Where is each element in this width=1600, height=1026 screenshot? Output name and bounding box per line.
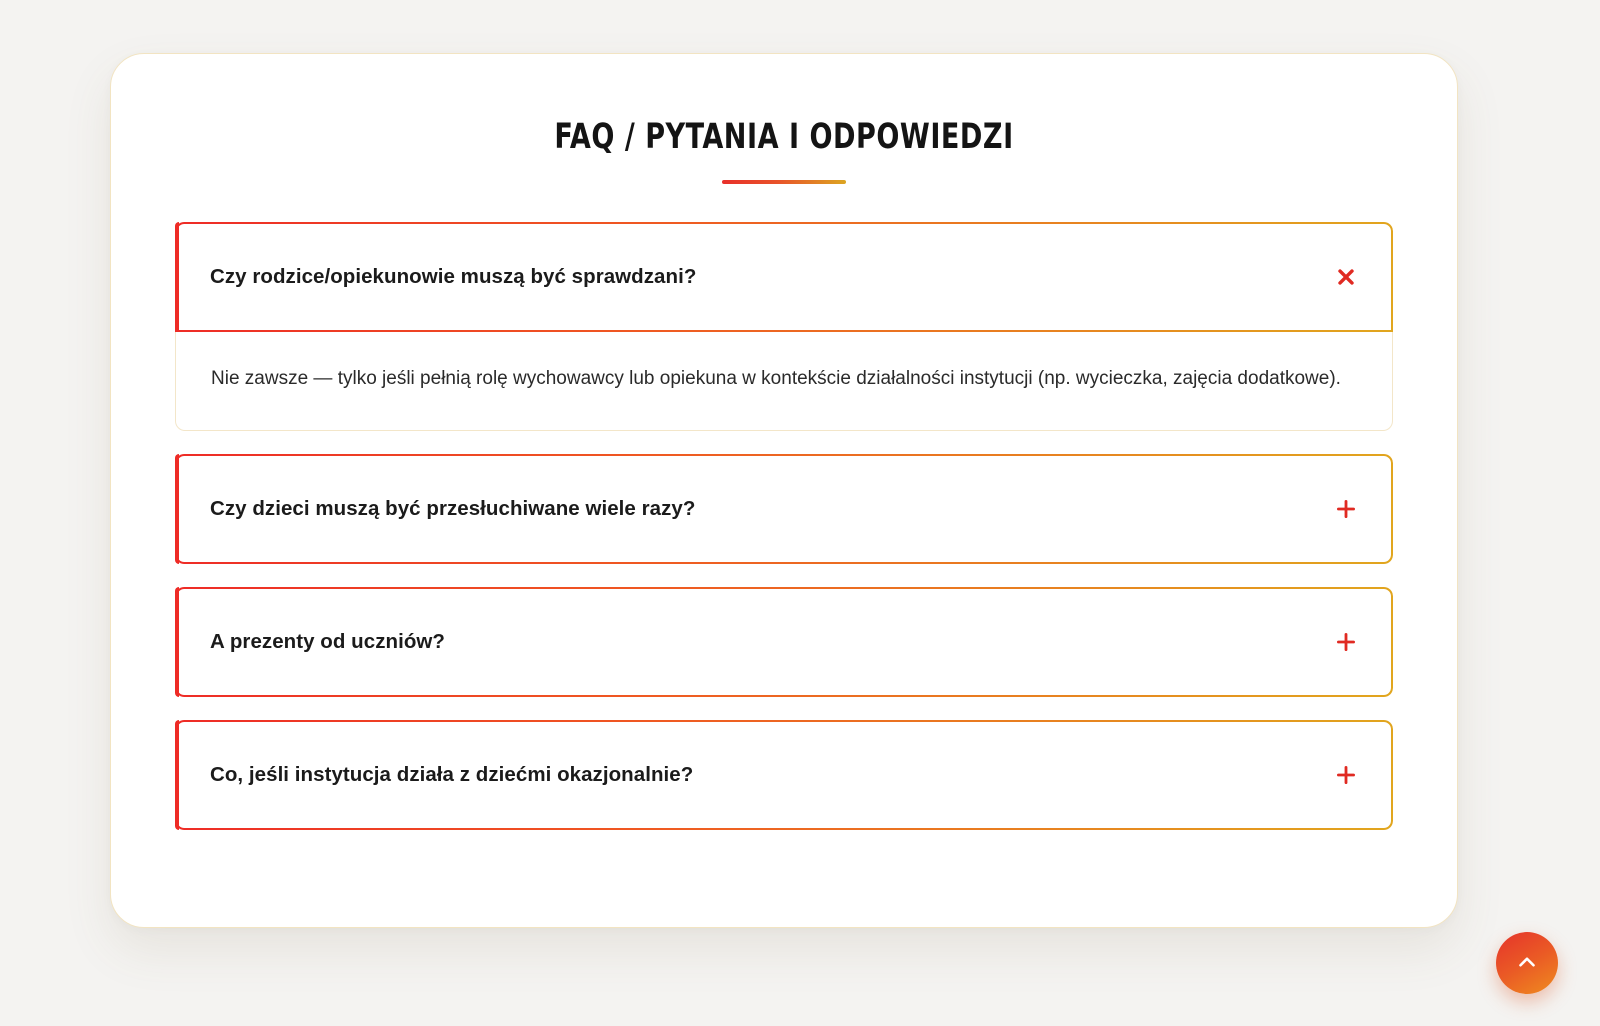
faq-question-text: Czy dzieci muszą być przesłuchiwane wiel…: [210, 497, 695, 521]
faq-item: A prezenty od uczniów?: [175, 587, 1393, 697]
page-title: FAQ / PYTANIA I ODPOWIEDZI: [205, 117, 1363, 157]
chevron-up-icon: [1514, 949, 1540, 978]
faq-question-toggle[interactable]: Czy rodzice/opiekunowie muszą być sprawd…: [175, 222, 1393, 332]
faq-question-toggle[interactable]: A prezenty od uczniów?: [175, 587, 1393, 697]
faq-card: FAQ / PYTANIA I ODPOWIEDZI Czy rodzice/o…: [110, 53, 1458, 928]
faq-question-toggle[interactable]: Czy dzieci muszą być przesłuchiwane wiel…: [175, 454, 1393, 564]
faq-item: Co, jeśli instytucja działa z dziećmi ok…: [175, 720, 1393, 830]
faq-question-text: A prezenty od uczniów?: [210, 630, 445, 654]
faq-answer-text: Nie zawsze — tylko jeśli pełnią rolę wyc…: [211, 362, 1358, 396]
faq-question-text: Co, jeśli instytucja działa z dziećmi ok…: [210, 763, 693, 787]
scroll-to-top-button[interactable]: [1496, 932, 1558, 994]
faq-answer-panel: Nie zawsze — tylko jeśli pełnią rolę wyc…: [175, 332, 1393, 431]
plus-icon[interactable]: [1333, 629, 1359, 655]
faq-question-toggle[interactable]: Co, jeśli instytucja działa z dziećmi ok…: [175, 720, 1393, 830]
faq-accordion: Czy rodzice/opiekunowie muszą być sprawd…: [175, 222, 1393, 830]
close-icon[interactable]: [1333, 264, 1359, 290]
plus-icon[interactable]: [1333, 496, 1359, 522]
faq-item: Czy dzieci muszą być przesłuchiwane wiel…: [175, 454, 1393, 564]
faq-item: Czy rodzice/opiekunowie muszą być sprawd…: [175, 222, 1393, 431]
title-underline: [722, 180, 846, 184]
plus-icon[interactable]: [1333, 762, 1359, 788]
faq-question-text: Czy rodzice/opiekunowie muszą być sprawd…: [210, 265, 696, 289]
